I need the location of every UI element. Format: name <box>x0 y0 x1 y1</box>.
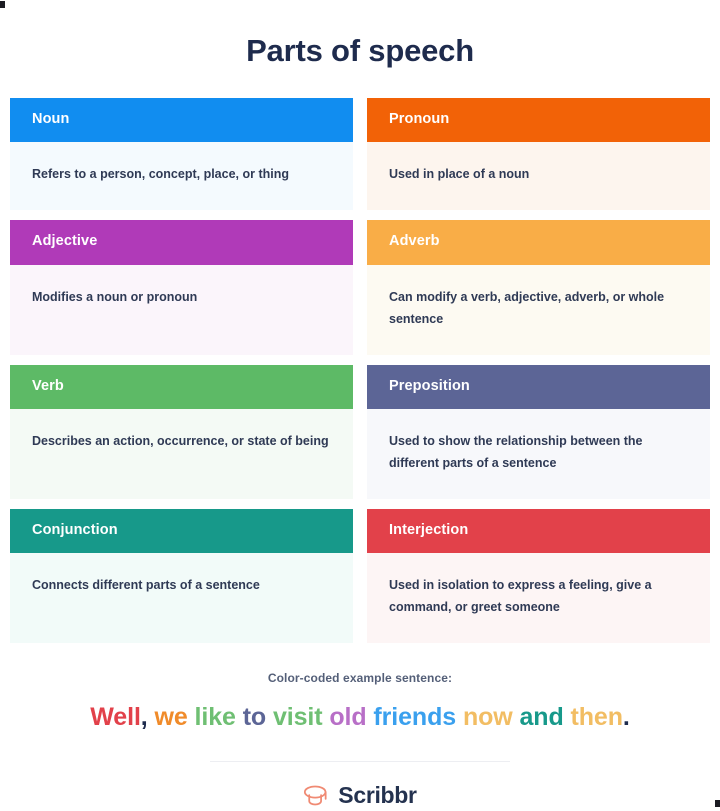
sentence-token-space <box>564 703 571 731</box>
card-adjective-header: Adjective <box>10 220 353 264</box>
card-conjunction-description: Connects different parts of a sentence <box>10 553 353 643</box>
graduation-cap-icon <box>303 784 329 806</box>
sentence-token-verb: like <box>195 703 236 731</box>
sentence-token-adverb: now <box>463 703 513 731</box>
scribbr-logo: Scribbr <box>0 782 720 809</box>
sentence-token-conjunction: and <box>520 703 564 731</box>
sentence-token-preposition: to <box>243 703 266 731</box>
example-label: Color-coded example sentence: <box>0 671 720 685</box>
card-preposition: Preposition Used to show the relationshi… <box>367 365 710 499</box>
sentence-token-interjection: Well <box>90 703 141 731</box>
card-noun: Noun Refers to a person, concept, place,… <box>10 98 353 210</box>
card-conjunction: Conjunction Connects different parts of … <box>10 509 353 643</box>
sentence-token-space <box>513 703 520 731</box>
card-pronoun: Pronoun Used in place of a noun <box>367 98 710 210</box>
sentence-token-adverb: then <box>571 703 623 731</box>
card-noun-header: Noun <box>10 98 353 142</box>
card-verb-description: Describes an action, occurrence, or stat… <box>10 409 353 499</box>
sentence-token-punctuation: , <box>141 703 148 731</box>
footer-divider <box>210 761 510 762</box>
sentence-token-verb: visit <box>273 703 323 731</box>
example-sentence: Well, we like to visit old friends now a… <box>0 703 720 732</box>
sentence-token-space <box>266 703 273 731</box>
card-preposition-header: Preposition <box>367 365 710 409</box>
card-interjection: Interjection Used in isolation to expres… <box>367 509 710 643</box>
sentence-token-punctuation: . <box>623 703 630 731</box>
card-adverb-header: Adverb <box>367 220 710 264</box>
sentence-token-space <box>188 703 195 731</box>
sentence-token-space <box>456 703 463 731</box>
parts-of-speech-grid: Noun Refers to a person, concept, place,… <box>10 98 710 643</box>
corner-mark-bottom-right <box>715 800 720 807</box>
sentence-token-space <box>148 703 155 731</box>
card-interjection-description: Used in isolation to express a feeling, … <box>367 553 710 643</box>
sentence-token-adjective: old <box>329 703 366 731</box>
card-pronoun-header: Pronoun <box>367 98 710 142</box>
example-section: Color-coded example sentence: Well, we l… <box>0 671 720 732</box>
card-verb-header: Verb <box>10 365 353 409</box>
sentence-token-noun: friends <box>373 703 456 731</box>
card-interjection-header: Interjection <box>367 509 710 553</box>
infographic-page: Parts of speech Noun Refers to a person,… <box>0 0 720 808</box>
card-conjunction-header: Conjunction <box>10 509 353 553</box>
card-verb: Verb Describes an action, occurrence, or… <box>10 365 353 499</box>
scribbr-wordmark: Scribbr <box>338 782 416 809</box>
card-adverb-description: Can modify a verb, adjective, adverb, or… <box>367 265 710 355</box>
sentence-token-space <box>236 703 243 731</box>
sentence-token-pronoun: we <box>155 703 188 731</box>
card-adverb: Adverb Can modify a verb, adjective, adv… <box>367 220 710 354</box>
corner-mark-top-left <box>0 1 5 8</box>
card-adjective-description: Modifies a noun or pronoun <box>10 265 353 355</box>
card-preposition-description: Used to show the relationship between th… <box>367 409 710 499</box>
page-title: Parts of speech <box>0 0 720 98</box>
card-noun-description: Refers to a person, concept, place, or t… <box>10 142 353 210</box>
card-pronoun-description: Used in place of a noun <box>367 142 710 210</box>
card-adjective: Adjective Modifies a noun or pronoun <box>10 220 353 354</box>
